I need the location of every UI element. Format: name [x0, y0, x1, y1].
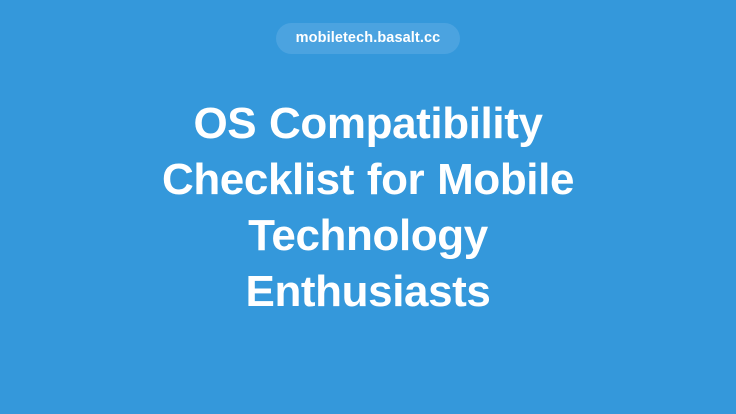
domain-badge[interactable]: mobiletech.basalt.cc: [276, 23, 461, 54]
page-title: OS Compatibility Checklist for Mobile Te…: [138, 96, 598, 320]
badge-row: mobiletech.basalt.cc: [0, 23, 736, 54]
hero-card: mobiletech.basalt.cc OS Compatibility Ch…: [0, 0, 736, 414]
headline-container: OS Compatibility Checklist for Mobile Te…: [138, 96, 598, 320]
